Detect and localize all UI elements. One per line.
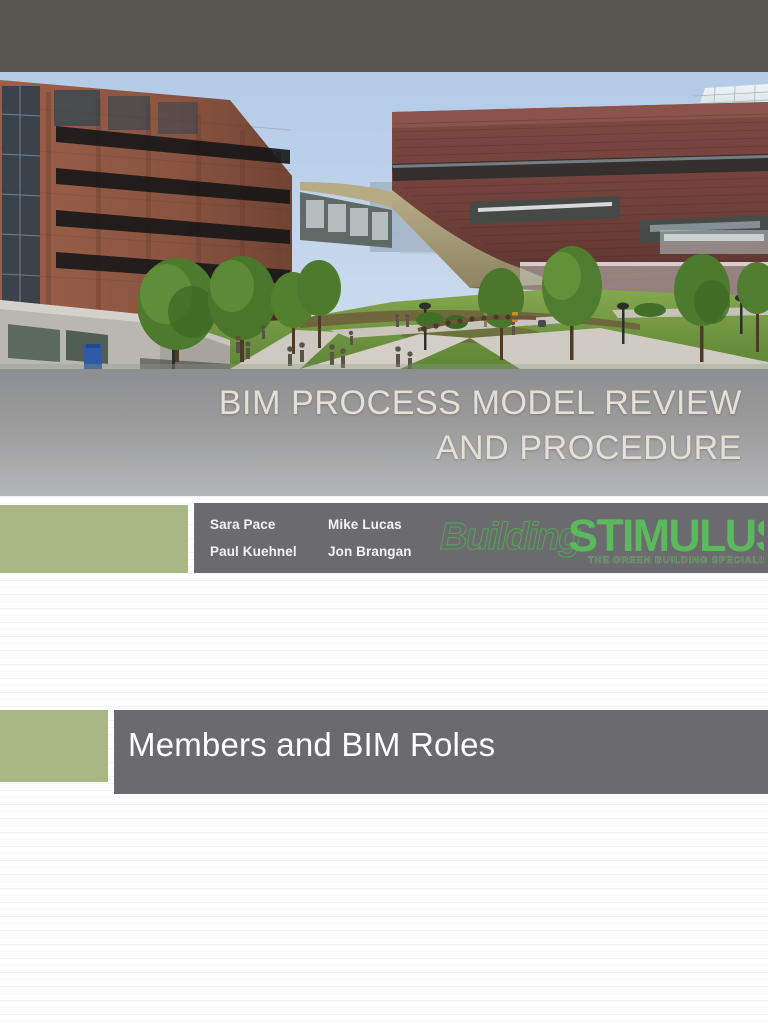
building-stimulus-logo: Building STIMULUS THE GREEN BUILDING SPE… <box>438 509 764 567</box>
campus-photo-svg <box>0 72 768 369</box>
author-name: Sara Pace <box>210 517 328 532</box>
author-name: Paul Kuehnel <box>210 544 328 559</box>
page-title: BIM PROCESS MODEL REVIEW AND PROCEDURE <box>102 381 742 471</box>
logo-svg: Building STIMULUS THE GREEN BUILDING SPE… <box>438 509 764 567</box>
logo-word-stimulus: STIMULUS <box>568 510 764 561</box>
campus-photo-banner <box>0 72 768 369</box>
authors-accent-block <box>0 505 188 573</box>
logo-word-building: Building <box>440 516 581 558</box>
top-gray-band <box>0 0 768 72</box>
authors-bar: Sara Pace Mike Lucas Paul Kuehnel Jon Br… <box>194 503 768 573</box>
title-gradient-panel: BIM PROCESS MODEL REVIEW AND PROCEDURE <box>0 369 768 496</box>
logo-tagline: THE GREEN BUILDING SPECIALISTS <box>588 555 764 566</box>
authors-list: Sara Pace Mike Lucas Paul Kuehnel Jon Br… <box>210 511 458 565</box>
section-accent-block <box>0 710 108 782</box>
section-heading-title: Members and BIM Roles <box>128 726 495 764</box>
section-heading-bar: Members and BIM Roles <box>114 710 768 794</box>
